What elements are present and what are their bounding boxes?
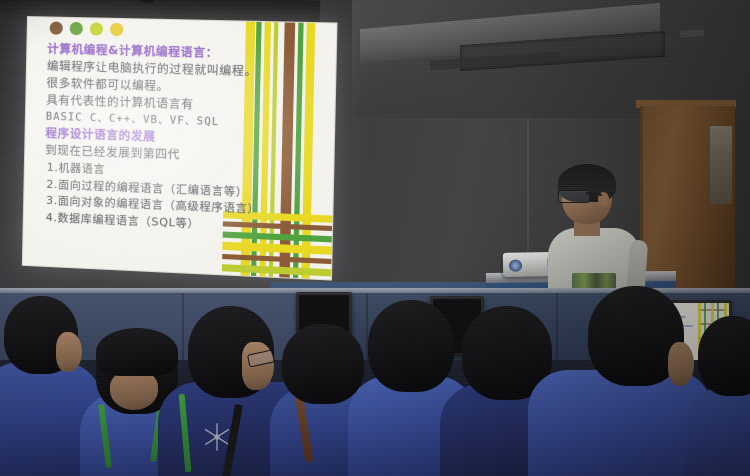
- slide-decorative-dots: [50, 21, 124, 36]
- screen-housing-knob: [140, 0, 154, 3]
- student-1-face: [56, 332, 82, 372]
- dot-brown-icon: [50, 21, 63, 34]
- student-7: [556, 286, 706, 476]
- dot-yellow-green-icon: [90, 22, 103, 35]
- student-2-face: [110, 370, 158, 410]
- student-5-head: [368, 300, 454, 392]
- slide-surface: 计算机编程&计算机编程语言： 编辑程序让电脑执行的过程就叫编程。 很多软件都可以…: [22, 16, 338, 281]
- classroom-photo-scene: 计算机编程&计算机编程语言： 编辑程序让电脑执行的过程就叫编程。 很多软件都可以…: [0, 0, 750, 476]
- dot-yellow-icon: [110, 23, 123, 36]
- door-window: [710, 126, 732, 204]
- slide-text-block: 计算机编程&计算机编程语言： 编辑程序让电脑执行的过程就叫编程。 很多软件都可以…: [44, 43, 294, 238]
- student-8: [690, 316, 750, 476]
- student-8-head: [698, 316, 750, 396]
- student-8-torso: [686, 386, 750, 476]
- student-7-torso: [528, 370, 712, 476]
- dot-green-icon: [70, 22, 83, 35]
- student-4-head: [282, 324, 364, 404]
- projection-screen: 计算机编程&计算机编程语言： 编辑程序让电脑执行的过程就叫编程。 很多软件都可以…: [22, 16, 336, 278]
- projector-lens-icon: [509, 260, 522, 272]
